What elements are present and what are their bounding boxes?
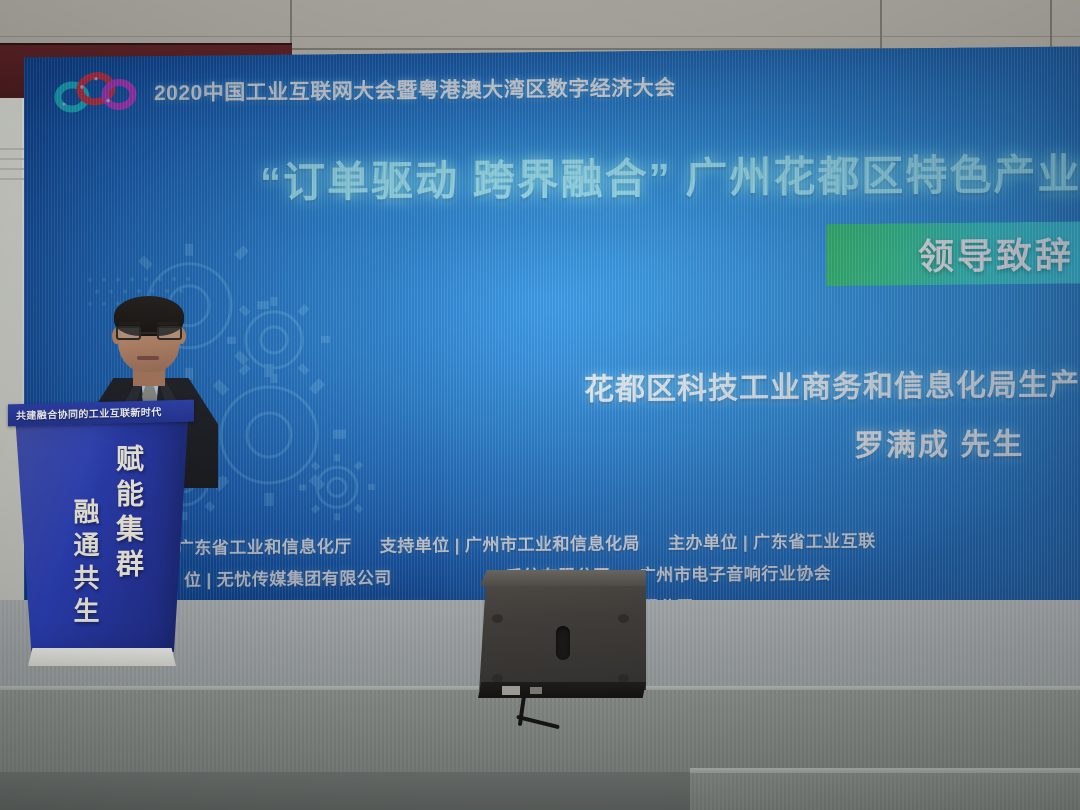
sponsor-value: 广东省工业互联 xyxy=(753,532,876,552)
speaker-name-text: 罗满成 先生 xyxy=(854,419,1024,465)
status-badge: 领导致辞 xyxy=(826,221,1080,286)
sponsor-item: 支持单位|广州市工业和信息化局 xyxy=(380,529,640,557)
speaker-role-text: 花都区科技工业商务和信息化局生产 xyxy=(584,359,1080,408)
person-eyebrow-right xyxy=(157,322,179,325)
stage-monitor-speaker xyxy=(474,570,646,705)
podium-base xyxy=(28,648,176,666)
conference-stage-photo: 2020中国工业互联网大会暨粤港澳大湾区数字经济大会 “订单驱动 跨界融合” 广… xyxy=(0,0,1080,810)
monitor-connector-panel xyxy=(530,687,542,694)
screen-header: 2020中国工业互联网大会暨粤港澳大湾区数字经济大会 xyxy=(52,65,676,116)
sponsor-value: 无忧传媒集团有限公司 xyxy=(217,569,392,590)
glasses-lens-right xyxy=(157,326,182,340)
monitor-body xyxy=(474,578,646,690)
event-title: 2020中国工业互联网大会暨粤港澳大湾区数字经济大会 xyxy=(154,72,676,107)
sponsor-sep: | xyxy=(743,533,748,552)
monitor-foot xyxy=(492,614,503,623)
person-eyebrow-left xyxy=(119,322,141,325)
podium-banner-text: 共建融合协同的工业互联新时代 xyxy=(16,403,162,422)
sponsor-value: 广州市工业和信息化局 xyxy=(465,534,640,555)
monitor-foot xyxy=(618,614,629,623)
event-rings-logo-icon xyxy=(52,70,140,115)
sponsor-item: 主办单位|广东省工业互联 xyxy=(668,527,876,554)
podium-calligraphy-right: 赋能集群 xyxy=(108,444,148,584)
stage-step2-face xyxy=(690,773,1080,810)
stage-lower-floor xyxy=(0,772,700,810)
sponsor-row: 立|广东省工业和信息化厅 支持单位|广州市工业和信息化局 主办单位|广东省工业互… xyxy=(144,524,1080,559)
ceiling-seam xyxy=(0,36,1080,37)
badge-label: 领导致辞 xyxy=(918,227,1074,281)
sponsor-sep: | xyxy=(455,536,460,555)
sponsor-value: 广州市电子音响行业协会 xyxy=(639,564,832,585)
sponsor-label: 支持单位 xyxy=(380,536,450,556)
glasses-lens-left xyxy=(116,326,141,340)
monitor-handle-slot xyxy=(556,626,570,660)
monitor-top-face xyxy=(480,570,646,586)
glasses-bridge xyxy=(141,332,157,334)
screen-highlight xyxy=(444,46,1080,608)
sponsor-item: 位|无忧传媒集团有限公司 xyxy=(184,564,392,591)
sponsor-label: 主办单位 xyxy=(668,533,738,553)
glasses-icon xyxy=(116,326,182,341)
headline-text: “订单驱动 跨界融合” 广州花都区特色产业集 xyxy=(260,140,1080,210)
podium-calligraphy-left: 融通共生 xyxy=(66,498,103,630)
podium: 融通共生 赋能集群 共建融合协同的工业互联新时代 xyxy=(8,402,208,672)
carpet-texture xyxy=(690,773,1080,810)
monitor-foot xyxy=(492,674,503,683)
monitor-connector-panel xyxy=(502,686,520,695)
sponsor-item: 广州市电子音响行业协会 xyxy=(639,559,832,586)
person-mouth xyxy=(137,356,159,360)
monitor-foot xyxy=(618,674,629,683)
